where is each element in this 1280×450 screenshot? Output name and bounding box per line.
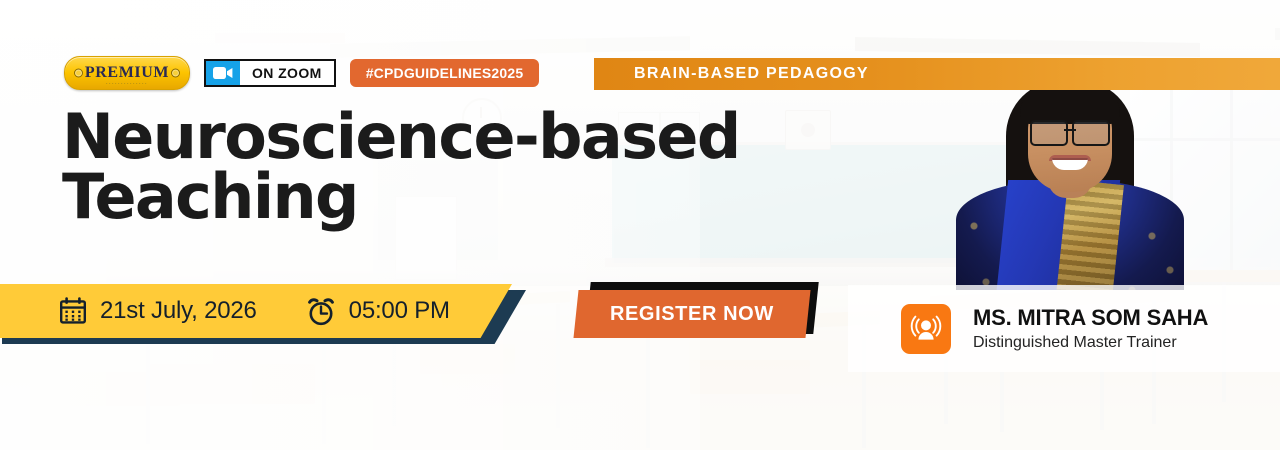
calendar-icon [58, 296, 88, 326]
speaker-panel: MS. MITRA SOM SAHA Distinguished Master … [848, 285, 1280, 372]
presenter-photo [944, 62, 1194, 290]
schedule-time: 05:00 PM [305, 295, 450, 327]
premium-badge-sublabel: •••••••••••••• [65, 81, 189, 86]
alarm-clock-icon [305, 295, 337, 327]
speaker-details: MS. MITRA SOM SAHA Distinguished Master … [973, 305, 1208, 351]
badge-row: PREMIUM •••••••••••••• ON ZOOM #CPDGUIDE… [64, 56, 539, 90]
presenter-glasses-icon [1028, 120, 1112, 142]
page-title: Neuroscience-based Teaching [62, 107, 740, 227]
premium-badge[interactable]: PREMIUM •••••••••••••• [64, 56, 190, 90]
topic-banner-label: BRAIN-BASED PEDAGOGY [634, 65, 869, 83]
webinar-promo-banner: PREMIUM •••••••••••••• ON ZOOM #CPDGUIDE… [0, 0, 1280, 450]
schedule-bar-body: 21st July, 2026 05:00 PM [0, 284, 512, 338]
register-button-label: REGISTER NOW [610, 303, 774, 326]
premium-ring-right-icon [171, 69, 180, 78]
premium-ring-left-icon [74, 69, 83, 78]
schedule-date-value: 21st July, 2026 [100, 297, 257, 325]
on-zoom-label: ON ZOOM [240, 66, 334, 80]
topic-banner: BRAIN-BASED PEDAGOGY [594, 58, 1280, 90]
speaker-broadcast-icon [901, 304, 951, 354]
speaker-role: Distinguished Master Trainer [973, 333, 1208, 352]
video-camera-icon [206, 61, 240, 85]
speaker-name: MS. MITRA SOM SAHA [973, 305, 1208, 330]
on-zoom-badge[interactable]: ON ZOOM [204, 59, 336, 87]
premium-badge-label: PREMIUM [85, 65, 169, 81]
hashtag-badge[interactable]: #CPDGUIDELINES2025 [350, 59, 540, 87]
schedule-time-value: 05:00 PM [349, 297, 450, 325]
register-now-button[interactable]: REGISTER NOW [576, 290, 808, 338]
hashtag-label: #CPDGUIDELINES2025 [366, 65, 524, 81]
register-button-face[interactable]: REGISTER NOW [573, 290, 810, 338]
schedule-date: 21st July, 2026 [58, 296, 257, 326]
schedule-bar: 21st July, 2026 05:00 PM [0, 284, 512, 338]
